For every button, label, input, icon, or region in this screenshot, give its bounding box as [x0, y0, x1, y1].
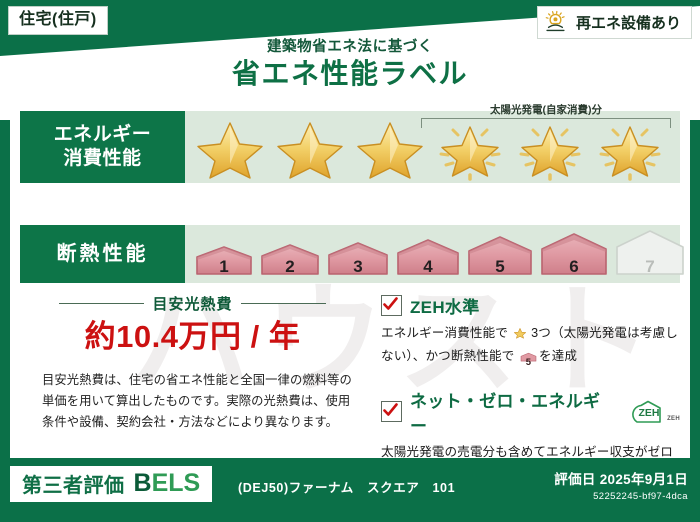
bels-certification-mark: 第三者評価 BELS	[10, 466, 212, 502]
insulation-level-1: 1	[193, 243, 255, 282]
insulation-level-number: 5	[465, 257, 535, 277]
title-subtitle: 建築物省エネ法に基づく	[0, 40, 700, 55]
insulation-level-number: 6	[538, 257, 610, 277]
criterion-title: ZEH水準	[410, 293, 480, 318]
criterion-title: ネット・ゼロ・エネルギー	[410, 387, 617, 437]
title-main: 省エネ性能ラベル	[0, 59, 700, 90]
renewable-badge-label: 再エネ設備あり	[576, 12, 681, 33]
evaluation-date: 評価日 2025年9月1日	[554, 468, 688, 488]
energy-key-line2: 消費性能	[63, 147, 141, 171]
insulation-level-4: 4	[394, 236, 462, 282]
star-icon	[271, 116, 349, 182]
criterion-header: ネット・ゼロ・エネルギー ZEH ZEH	[381, 387, 680, 437]
insulation-level-scale: 1 2 3	[191, 227, 687, 282]
insulation-level-number: 1	[193, 257, 255, 277]
solar-note-label: 太陽光発電(自家消費)分	[421, 105, 671, 116]
property-name: (DEJ50)ファーナム スクエア 101	[238, 477, 455, 496]
insulation-level-5: 5	[465, 233, 535, 282]
insulation-level-number: 2	[258, 257, 322, 277]
zeh-trademark: ZEH	[667, 416, 680, 424]
energy-performance-row: エネルギー 消費性能 太陽光発電(自家消費)分	[20, 111, 680, 183]
criterion-zeh-standard: ZEH水準 エネルギー消費性能で 3つ（太陽光発電は考慮しない）、かつ断熱性能で	[381, 293, 680, 371]
svg-text:ZEH: ZEH	[639, 407, 660, 419]
heading-rule-left	[59, 303, 144, 304]
insulation-performance-row: 断熱性能 1	[20, 225, 680, 283]
criterion-body-pre: エネルギー消費性能で	[381, 326, 508, 340]
criterion-header: ZEH水準	[381, 293, 680, 318]
energy-performance-value: 太陽光発電(自家消費)分	[185, 111, 680, 183]
evaluation-info: 評価日 2025年9月1日 52252245-bf97-4dca	[554, 468, 688, 502]
insulation-level-7: 7	[613, 227, 687, 282]
insulation-level-number: 4	[394, 257, 462, 277]
building-type-tag: 住宅(住戸)	[8, 6, 108, 35]
utility-cost-value: 約10.4万円 / 年	[20, 320, 365, 354]
insulation-performance-value: 1 2 3	[185, 225, 687, 283]
renewable-equipment-badge: 再エネ設備あり	[537, 6, 692, 39]
star-icon	[351, 116, 429, 182]
insulation-badge-inline: 5	[520, 350, 537, 370]
criterion-body-post: を達成	[539, 349, 577, 363]
utility-cost-heading: 目安光熱費	[20, 293, 365, 314]
utility-cost-note: 目安光熱費は、住宅の省エネ性能と全国一律の燃料等の単価を用いて算出したものです。…	[20, 370, 365, 433]
solar-sun-icon	[544, 10, 570, 34]
label-lower-section: 目安光熱費 約10.4万円 / 年 目安光熱費は、住宅の省エネ性能と全国一律の燃…	[20, 291, 680, 451]
label-footer: 第三者評価 BELS (DEJ50)ファーナム スクエア 101 評価日 202…	[0, 458, 700, 522]
bels-letters-els: ELS	[152, 469, 201, 497]
utility-cost-label: 目安光熱費	[152, 293, 232, 314]
insulation-level-number: 3	[325, 257, 391, 277]
criteria-section: ZEH水準 エネルギー消費性能で 3つ（太陽光発電は考慮しない）、かつ断熱性能で	[365, 291, 680, 451]
energy-key-line1: エネルギー	[54, 123, 152, 147]
label-title-block: 建築物省エネ法に基づく 省エネ性能ラベル	[0, 40, 700, 89]
star-icon-inline	[513, 329, 531, 343]
energy-performance-label: 住宅(住戸) 再エネ設備あり 建築物省エネ法に基づく 省エネ性能ラベル ハウスト	[0, 0, 700, 522]
energy-performance-key: エネルギー 消費性能	[20, 111, 185, 183]
utility-cost-section: 目安光熱費 約10.4万円 / 年 目安光熱費は、住宅の省エネ性能と全国一律の燃…	[20, 291, 365, 451]
zeh-logo-icon: ZEH ZEH	[630, 400, 680, 424]
star-icon	[191, 116, 269, 182]
certificate-id: 52252245-bf97-4dca	[554, 491, 688, 502]
insulation-level-2: 2	[258, 241, 322, 282]
bels-wordmark: BELS	[134, 471, 201, 496]
insulation-level-number: 7	[613, 257, 687, 277]
insulation-key-label: 断熱性能	[57, 242, 149, 267]
insulation-badge-number: 5	[520, 355, 537, 370]
criterion-body: 太陽光発電の売電分も含めてエネルギー収支がゼロ以下を達成	[381, 442, 680, 458]
bels-jp-label: 第三者評価	[22, 469, 125, 498]
insulation-level-6: 6	[538, 230, 610, 282]
insulation-performance-key: 断熱性能	[20, 225, 185, 283]
bels-letter-b: B	[134, 469, 152, 497]
solar-contribution-annotation: 太陽光発電(自家消費)分	[421, 105, 671, 128]
checkbox-checked-icon	[381, 401, 402, 422]
checkbox-checked-icon	[381, 295, 402, 316]
insulation-level-3: 3	[325, 239, 391, 282]
label-card: ハウスト エネルギー 消費性能 太陽光発電(自家消費)分	[10, 103, 690, 458]
criterion-body: エネルギー消費性能で 3つ（太陽光発電は考慮しない）、かつ断熱性能で 5 を達成	[381, 323, 680, 371]
heading-rule-right	[241, 303, 326, 304]
solar-bracket	[421, 118, 671, 128]
criterion-net-zero-energy: ネット・ゼロ・エネルギー ZEH ZEH 太陽光発電の売電分も含めてエネルギー収…	[381, 387, 680, 458]
